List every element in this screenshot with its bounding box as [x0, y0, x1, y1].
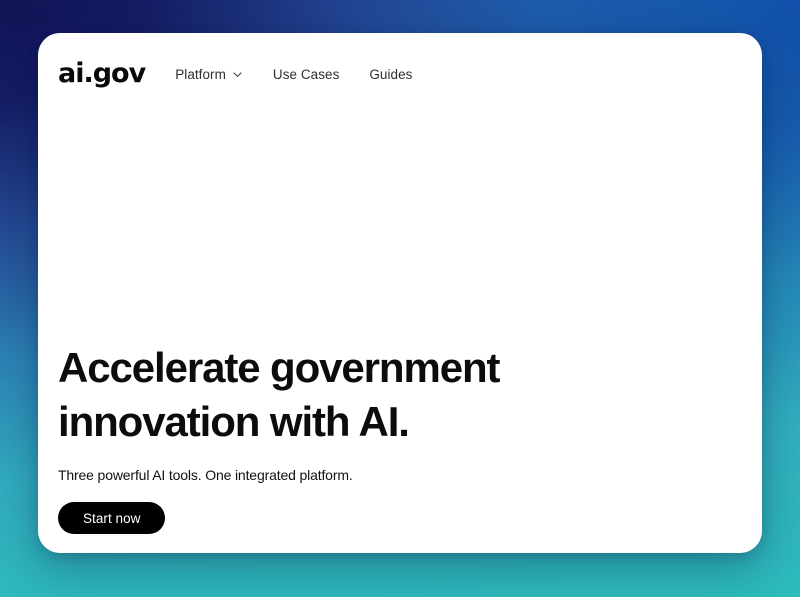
- site-logo[interactable]: ai.gov: [58, 60, 145, 87]
- nav-item-use-cases-label: Use Cases: [273, 67, 339, 82]
- hero-section: Accelerate government innovation with AI…: [58, 341, 742, 534]
- nav-item-guides[interactable]: Guides: [369, 67, 412, 82]
- nav-item-platform-label: Platform: [175, 67, 226, 82]
- nav-item-guides-label: Guides: [369, 67, 412, 82]
- nav-item-platform[interactable]: Platform: [175, 67, 243, 82]
- page-background: ai.gov Platform Use Cases Guides: [0, 0, 800, 597]
- site-header: ai.gov Platform Use Cases Guides: [58, 53, 742, 93]
- hero-subtitle: Three powerful AI tools. One integrated …: [58, 465, 742, 485]
- nav-item-use-cases[interactable]: Use Cases: [273, 67, 339, 82]
- main-nav: Platform Use Cases Guides: [175, 65, 412, 82]
- hero-headline: Accelerate government innovation with AI…: [58, 341, 742, 449]
- hero-card: ai.gov Platform Use Cases Guides: [38, 33, 762, 553]
- chevron-down-icon: [232, 69, 243, 80]
- start-now-button[interactable]: Start now: [58, 502, 165, 534]
